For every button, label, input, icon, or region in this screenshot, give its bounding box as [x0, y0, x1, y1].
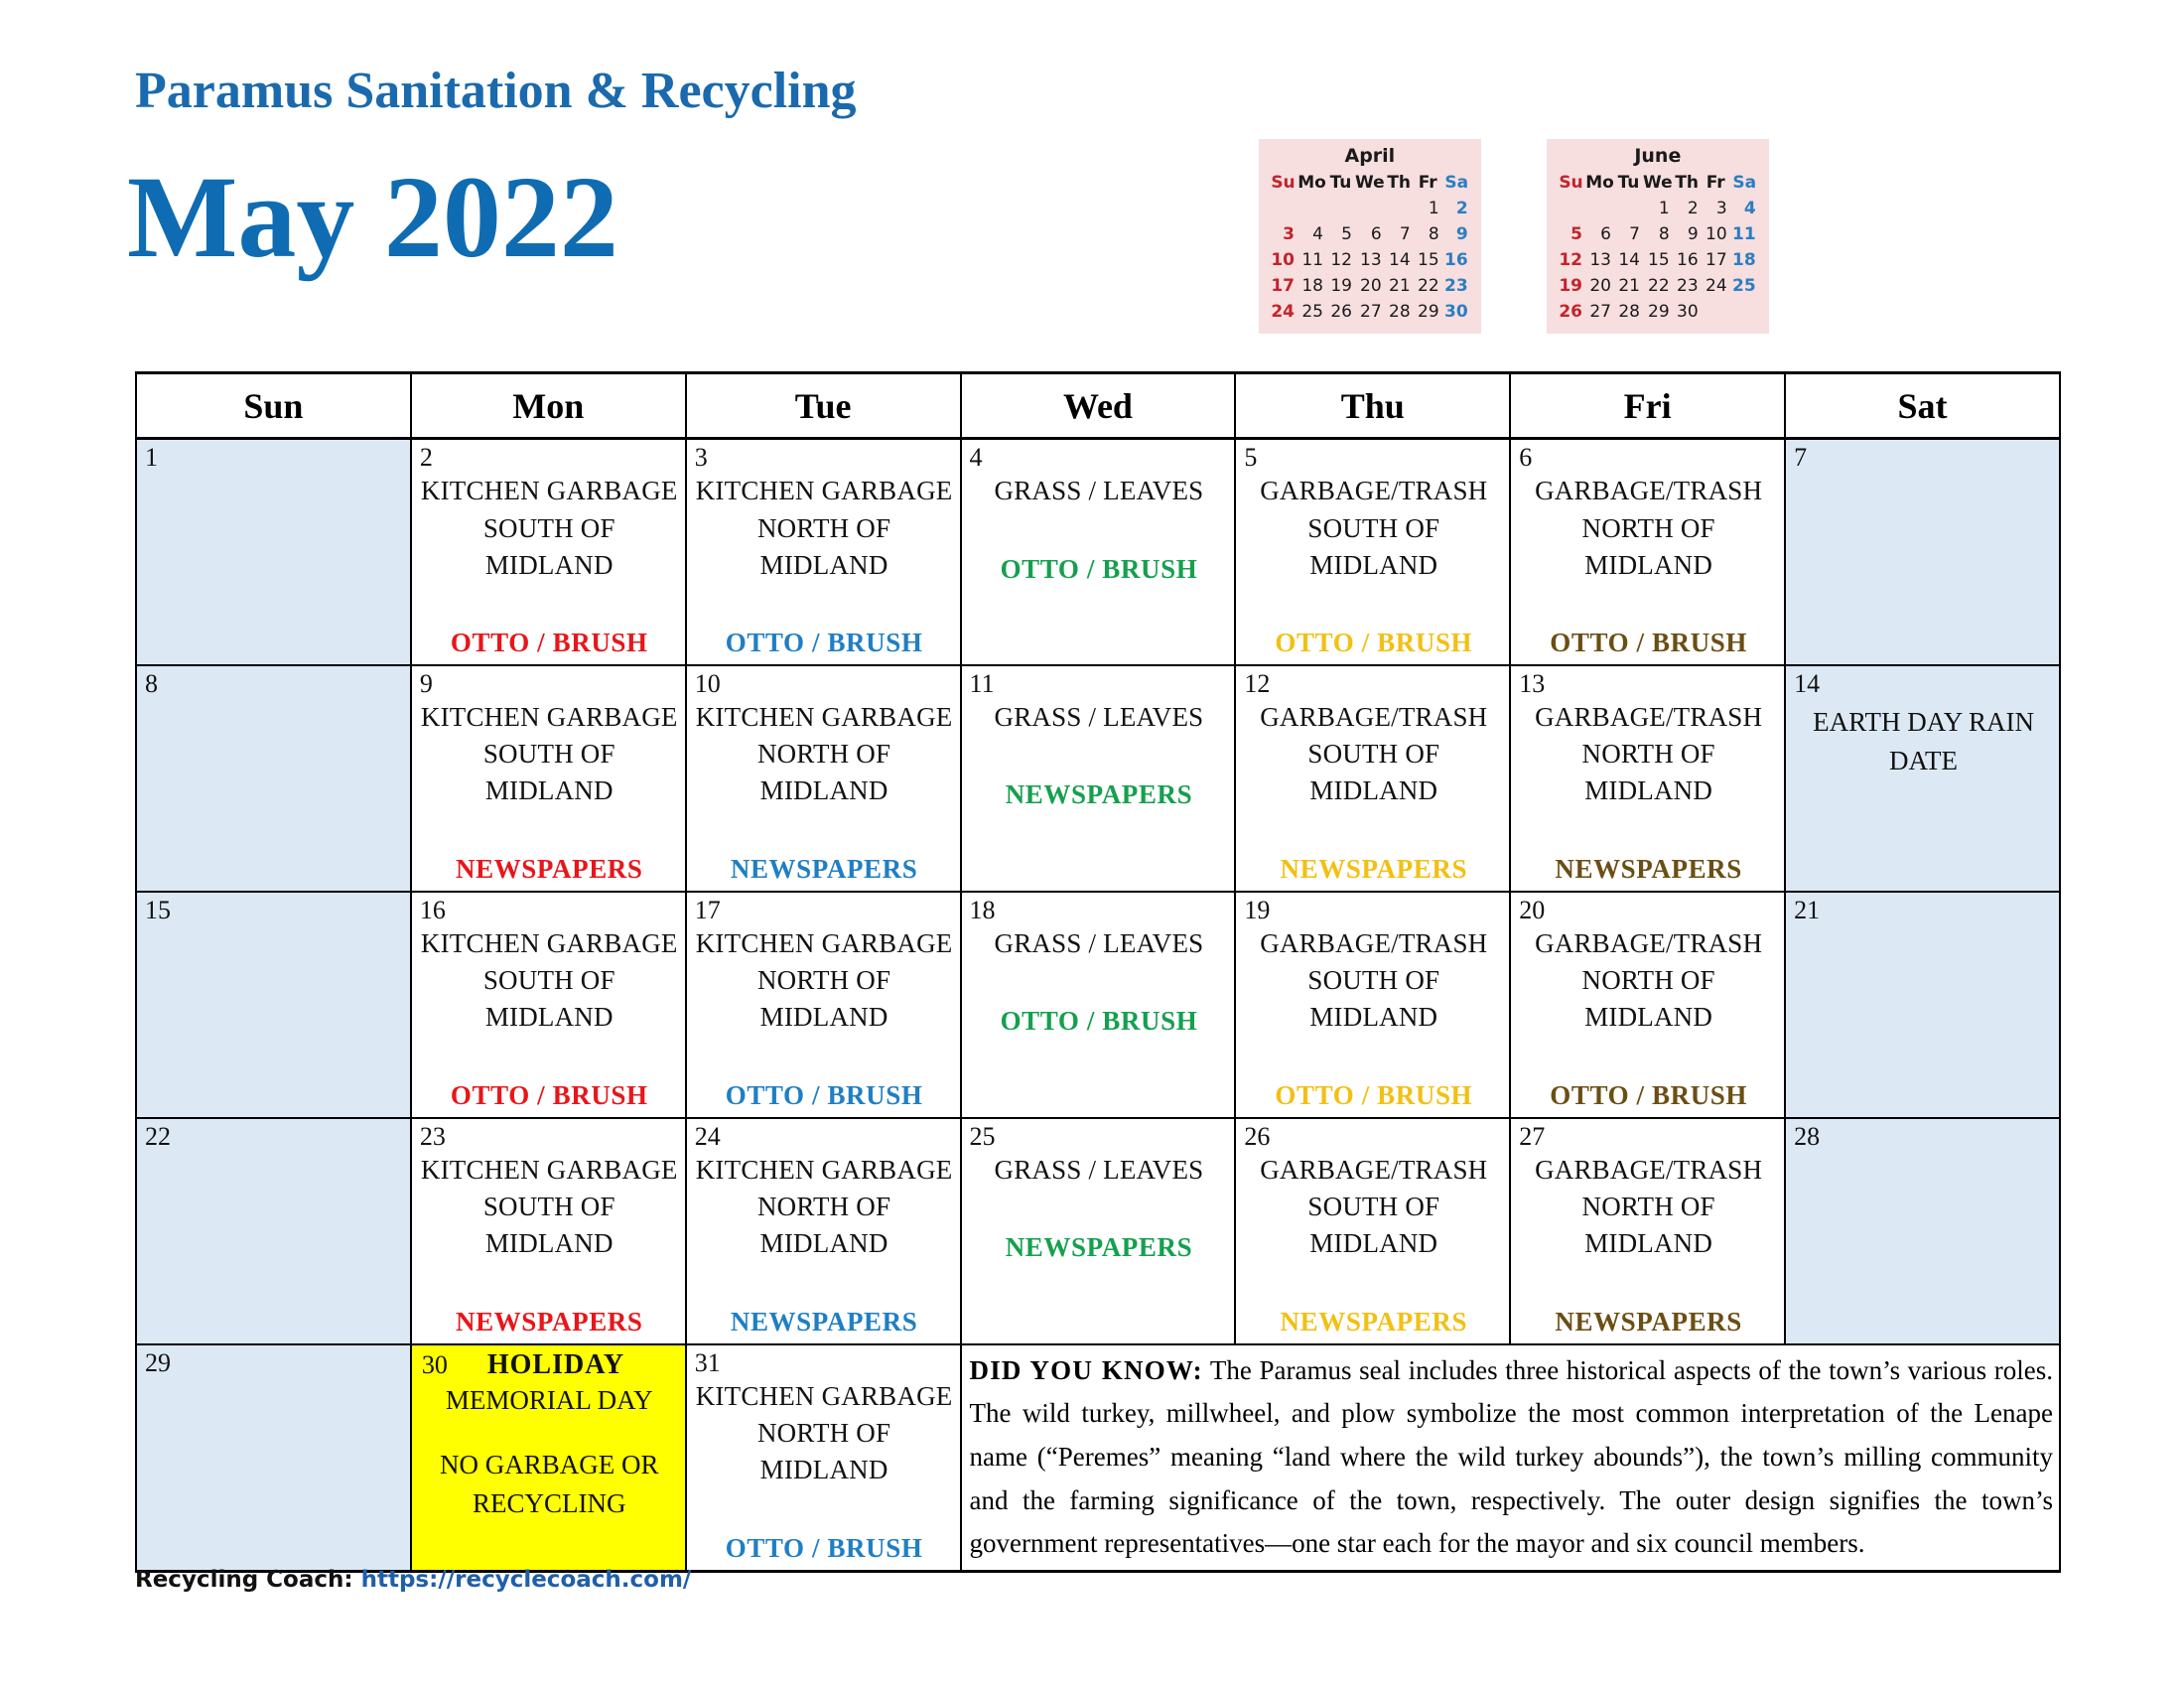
day-number: 9 [420, 670, 433, 697]
mini-day-cell: 18 [1730, 247, 1759, 273]
day-cell[interactable]: 19GARBAGE/TRASHSOUTH OF MIDLANDOTTO / BR… [1235, 892, 1510, 1118]
day-number: 2 [420, 444, 433, 471]
collection-line: SOUTH OF MIDLAND [1244, 736, 1503, 810]
pickup-label: OTTO / BRUSH [1519, 628, 1778, 658]
day-cell[interactable]: 20GARBAGE/TRASHNORTH OF MIDLANDOTTO / BR… [1510, 892, 1785, 1118]
mini-day-cell: 13 [1355, 247, 1385, 273]
holiday-notice: NO GARBAGE ORRECYCLING [420, 1446, 679, 1523]
collection-line: KITCHEN GARBAGE [420, 925, 679, 962]
mini-day-cell: 9 [1673, 221, 1702, 247]
weekday-header-sun: Sun [136, 373, 411, 439]
collection-line: SOUTH OF MIDLAND [420, 510, 679, 585]
day-number: 4 [970, 444, 983, 471]
collection-type: GARBAGE/TRASHNORTH OF MIDLAND [1519, 925, 1778, 1037]
mini-week-row: 12 [1269, 196, 1471, 221]
mini-dow-mo: Mo [1585, 170, 1614, 196]
calendar-week-row: 2223KITCHEN GARBAGESOUTH OF MIDLANDNEWSP… [136, 1118, 2060, 1344]
day-number: 17 [695, 897, 721, 923]
collection-type: GRASS / LEAVES [970, 925, 1229, 962]
collection-line: GARBAGE/TRASH [1519, 473, 1778, 509]
collection-line: GARBAGE/TRASH [1244, 1152, 1503, 1189]
weekday-header-wed: Wed [961, 373, 1236, 439]
day-cell[interactable]: 18GRASS / LEAVESOTTO / BRUSH [961, 892, 1236, 1118]
calendar-week-row-last: 2930HOLIDAYMEMORIAL DAYNO GARBAGE ORRECY… [136, 1344, 2060, 1572]
day-cell[interactable]: 21 [1785, 892, 2060, 1118]
mini-day-cell: 11 [1730, 221, 1759, 247]
collection-line: GARBAGE/TRASH [1519, 925, 1778, 962]
pickup-label: NEWSPAPERS [420, 854, 679, 885]
collection-line: NORTH OF MIDLAND [1519, 1189, 1778, 1263]
pickup-label: OTTO / BRUSH [695, 1080, 954, 1111]
day-number: 13 [1519, 670, 1545, 697]
mini-day-cell: 5 [1557, 221, 1585, 247]
pickup-label: OTTO / BRUSH [695, 628, 954, 658]
pickup-label: OTTO / BRUSH [695, 1533, 954, 1564]
mini-day-cell: 4 [1730, 196, 1759, 221]
collection-type: KITCHEN GARBAGESOUTH OF MIDLAND [420, 1152, 679, 1263]
collection-type: GARBAGE/TRASHSOUTH OF MIDLAND [1244, 1152, 1503, 1263]
mini-dow-row: SuMoTuWeThFrSa [1269, 170, 1471, 196]
mini-dow-tu: Tu [1326, 170, 1355, 196]
mini-day-cell: 1 [1414, 196, 1442, 221]
mini-day-cell [1614, 196, 1643, 221]
collection-line: KITCHEN GARBAGE [695, 473, 954, 509]
day-cell[interactable]: 29 [136, 1344, 411, 1572]
collection-line: NORTH OF MIDLAND [695, 962, 954, 1037]
mini-day-cell [1355, 196, 1385, 221]
mini-day-cell: 15 [1643, 247, 1673, 273]
collection-line: GRASS / LEAVES [970, 925, 1229, 962]
collection-type: GARBAGE/TRASHSOUTH OF MIDLAND [1244, 925, 1503, 1037]
collection-type: KITCHEN GARBAGESOUTH OF MIDLAND [420, 699, 679, 810]
pickup-label: NEWSPAPERS [695, 1307, 954, 1337]
day-cell[interactable]: 10KITCHEN GARBAGENORTH OF MIDLANDNEWSPAP… [686, 665, 961, 892]
collection-line: SOUTH OF MIDLAND [1244, 1189, 1503, 1263]
did-you-know-body: The Paramus seal includes three historic… [970, 1355, 2053, 1559]
mini-day-cell [1557, 196, 1585, 221]
day-number: 3 [695, 444, 708, 471]
mini-calendar-april: AprilSuMoTuWeThFrSa123456789101112131415… [1259, 139, 1481, 334]
collection-line: NORTH OF MIDLAND [695, 1415, 954, 1489]
day-cell[interactable]: 22 [136, 1118, 411, 1344]
footer: Recycling Coach: https://recyclecoach.co… [135, 1567, 691, 1593]
collection-line: KITCHEN GARBAGE [695, 1378, 954, 1415]
mini-week-row: 17181920212223 [1269, 273, 1471, 299]
mini-day-cell: 20 [1585, 273, 1614, 299]
day-cell[interactable]: 9KITCHEN GARBAGESOUTH OF MIDLANDNEWSPAPE… [411, 665, 686, 892]
collection-type: GARBAGE/TRASHSOUTH OF MIDLAND [1244, 699, 1503, 810]
mini-day-cell [1297, 196, 1326, 221]
collection-line: NORTH OF MIDLAND [695, 510, 954, 585]
mini-day-cell: 3 [1269, 221, 1297, 247]
did-you-know-lead: DID YOU KNOW: [970, 1355, 1203, 1385]
collection-line: SOUTH OF MIDLAND [420, 962, 679, 1037]
mini-dow-row: SuMoTuWeThFrSa [1557, 170, 1759, 196]
day-number: 21 [1794, 897, 1820, 923]
mini-dow-sa: Sa [1442, 170, 1471, 196]
mini-day-cell: 23 [1673, 273, 1702, 299]
weekday-header-tue: Tue [686, 373, 961, 439]
holiday-badge: HOLIDAY [487, 1349, 624, 1381]
mini-day-cell: 7 [1614, 221, 1643, 247]
pickup-label: OTTO / BRUSH [420, 1080, 679, 1111]
mini-dow-sa: Sa [1730, 170, 1759, 196]
collection-line: NORTH OF MIDLAND [695, 1189, 954, 1263]
holiday-name: MEMORIAL DAY [420, 1381, 679, 1420]
day-number: 23 [420, 1123, 446, 1150]
day-number: 6 [1519, 444, 1532, 471]
page-title: Paramus Sanitation & Recycling [135, 62, 857, 120]
mini-day-cell: 1 [1643, 196, 1673, 221]
pickup-label: OTTO / BRUSH [420, 628, 679, 658]
calendar-page: Paramus Sanitation & Recycling May 2022 … [0, 0, 2184, 1688]
mini-dow-fr: Fr [1414, 170, 1442, 196]
mini-day-cell: 12 [1557, 247, 1585, 273]
day-cell[interactable]: 4GRASS / LEAVESOTTO / BRUSH [961, 439, 1236, 665]
mini-dow-th: Th [1673, 170, 1702, 196]
pickup-label: NEWSPAPERS [1244, 854, 1503, 885]
collection-type: KITCHEN GARBAGENORTH OF MIDLAND [695, 1152, 954, 1263]
collection-line: SOUTH OF MIDLAND [1244, 962, 1503, 1037]
day-number: 5 [1244, 444, 1257, 471]
day-cell[interactable]: 13GARBAGE/TRASHNORTH OF MIDLANDNEWSPAPER… [1510, 665, 1785, 892]
day-cell[interactable]: 2KITCHEN GARBAGESOUTH OF MIDLANDOTTO / B… [411, 439, 686, 665]
day-cell[interactable]: 1 [136, 439, 411, 665]
day-number: 12 [1244, 670, 1270, 697]
day-cell[interactable]: 31KITCHEN GARBAGENORTH OF MIDLANDOTTO / … [686, 1344, 961, 1572]
calendar-week-row: 1516KITCHEN GARBAGESOUTH OF MIDLANDOTTO … [136, 892, 2060, 1118]
mini-week-row: 24252627282930 [1269, 299, 1471, 325]
did-you-know-panel: DID YOU KNOW: The Paramus seal includes … [961, 1344, 2060, 1572]
pickup-label: NEWSPAPERS [970, 779, 1229, 810]
collection-line: NORTH OF MIDLAND [1519, 736, 1778, 810]
collection-type: GARBAGE/TRASHNORTH OF MIDLAND [1519, 699, 1778, 810]
month-grid: Sun Mon Tue Wed Thu Fri Sat 12KITCHEN GA… [135, 371, 2061, 1573]
day-cell[interactable]: 27GARBAGE/TRASHNORTH OF MIDLANDNEWSPAPER… [1510, 1118, 1785, 1344]
day-cell[interactable]: 17KITCHEN GARBAGENORTH OF MIDLANDOTTO / … [686, 892, 961, 1118]
mini-day-cell: 16 [1442, 247, 1471, 273]
mini-calendar-title: April [1269, 145, 1471, 170]
collection-line: SOUTH OF MIDLAND [420, 736, 679, 810]
collection-type: KITCHEN GARBAGENORTH OF MIDLAND [695, 699, 954, 810]
pickup-label: NEWSPAPERS [1244, 1307, 1503, 1337]
day-cell[interactable]: 5GARBAGE/TRASHSOUTH OF MIDLANDOTTO / BRU… [1235, 439, 1510, 665]
mini-day-cell: 8 [1414, 221, 1442, 247]
weekday-header-thu: Thu [1235, 373, 1510, 439]
mini-day-cell: 14 [1385, 247, 1414, 273]
mini-dow-mo: Mo [1297, 170, 1326, 196]
weekday-header-mon: Mon [411, 373, 686, 439]
day-number: 18 [970, 897, 996, 923]
mini-day-cell: 28 [1385, 299, 1414, 325]
mini-dow-we: We [1643, 170, 1673, 196]
mini-day-cell [1585, 196, 1614, 221]
collection-line: KITCHEN GARBAGE [695, 699, 954, 736]
did-you-know-text: DID YOU KNOW: The Paramus seal includes … [970, 1349, 2053, 1567]
pickup-label: NEWSPAPERS [970, 1232, 1229, 1263]
mini-day-cell [1730, 299, 1759, 325]
day-cell[interactable]: 3KITCHEN GARBAGENORTH OF MIDLANDOTTO / B… [686, 439, 961, 665]
day-cell[interactable]: 6GARBAGE/TRASHNORTH OF MIDLANDOTTO / BRU… [1510, 439, 1785, 665]
day-number: 1 [145, 444, 158, 471]
mini-day-cell: 25 [1730, 273, 1759, 299]
mini-week-row: 10111213141516 [1269, 247, 1471, 273]
mini-week-row: 567891011 [1557, 221, 1759, 247]
collection-line: NORTH OF MIDLAND [1519, 962, 1778, 1037]
collection-line: GRASS / LEAVES [970, 699, 1229, 736]
collection-line: SOUTH OF MIDLAND [420, 1189, 679, 1263]
pickup-label: OTTO / BRUSH [1519, 1080, 1778, 1111]
mini-day-cell: 6 [1355, 221, 1385, 247]
day-number: 28 [1794, 1123, 1820, 1150]
mini-day-cell: 9 [1442, 221, 1471, 247]
mini-day-cell: 3 [1702, 196, 1730, 221]
mini-day-cell: 10 [1702, 221, 1730, 247]
pickup-label: OTTO / BRUSH [1244, 628, 1503, 658]
mini-day-cell: 27 [1355, 299, 1385, 325]
day-number: 30 [422, 1351, 448, 1378]
day-number: 11 [970, 670, 995, 697]
day-number: 26 [1244, 1123, 1270, 1150]
mini-day-cell: 18 [1297, 273, 1326, 299]
day-cell[interactable]: 16KITCHEN GARBAGESOUTH OF MIDLANDOTTO / … [411, 892, 686, 1118]
mini-day-cell: 19 [1326, 273, 1355, 299]
day-cell[interactable]: 23KITCHEN GARBAGESOUTH OF MIDLANDNEWSPAP… [411, 1118, 686, 1344]
day-cell[interactable]: 14EARTH DAY RAINDATE [1785, 665, 2060, 892]
mini-day-cell: 4 [1297, 221, 1326, 247]
collection-type: GARBAGE/TRASHNORTH OF MIDLAND [1519, 473, 1778, 584]
mini-day-cell: 25 [1297, 299, 1326, 325]
calendar-week-row: 12KITCHEN GARBAGESOUTH OF MIDLANDOTTO / … [136, 439, 2060, 665]
mini-day-cell: 2 [1442, 196, 1471, 221]
calendar-week-row: 89KITCHEN GARBAGESOUTH OF MIDLANDNEWSPAP… [136, 665, 2060, 892]
collection-line: GARBAGE/TRASH [1244, 925, 1503, 962]
mini-day-cell: 8 [1643, 221, 1673, 247]
day-cell[interactable]: 25GRASS / LEAVESNEWSPAPERS [961, 1118, 1236, 1344]
day-number: 20 [1519, 897, 1545, 923]
day-number: 31 [695, 1349, 721, 1376]
collection-line: GARBAGE/TRASH [1244, 473, 1503, 509]
mini-day-cell: 28 [1614, 299, 1643, 325]
collection-line: KITCHEN GARBAGE [420, 1152, 679, 1189]
collection-line: GARBAGE/TRASH [1519, 699, 1778, 736]
spacer [420, 1420, 679, 1446]
collection-line: EARTH DAY RAIN [1794, 703, 2053, 742]
month-title: May 2022 [127, 159, 618, 276]
holiday-notice-line: NO GARBAGE OR [420, 1446, 679, 1484]
collection-type: GRASS / LEAVES [970, 473, 1229, 509]
day-cell[interactable]: 11GRASS / LEAVESNEWSPAPERS [961, 665, 1236, 892]
collection-line: NORTH OF MIDLAND [1519, 510, 1778, 585]
weekday-header-fri: Fri [1510, 373, 1785, 439]
day-note: EARTH DAY RAINDATE [1794, 703, 2053, 780]
mini-week-row: 3456789 [1269, 221, 1471, 247]
day-number: 15 [145, 897, 171, 923]
pickup-label: NEWSPAPERS [695, 854, 954, 885]
mini-dow-we: We [1355, 170, 1385, 196]
day-number: 7 [1794, 444, 1807, 471]
day-number: 14 [1794, 670, 1820, 697]
day-cell[interactable]: 12GARBAGE/TRASHSOUTH OF MIDLANDNEWSPAPER… [1235, 665, 1510, 892]
mini-day-cell: 26 [1326, 299, 1355, 325]
footer-label: Recycling Coach: [135, 1567, 353, 1593]
mini-dow-su: Su [1557, 170, 1585, 196]
collection-line: DATE [1794, 742, 2053, 780]
day-number: 8 [145, 670, 158, 697]
collection-type: KITCHEN GARBAGENORTH OF MIDLAND [695, 473, 954, 584]
mini-day-cell [1702, 299, 1730, 325]
mini-calendar-june: JuneSuMoTuWeThFrSa1234567891011121314151… [1547, 139, 1769, 334]
mini-day-cell: 21 [1614, 273, 1643, 299]
day-cell[interactable]: 15 [136, 892, 411, 1118]
holiday-header: 30HOLIDAY [420, 1349, 679, 1381]
mini-day-cell: 13 [1585, 247, 1614, 273]
mini-day-cell [1385, 196, 1414, 221]
mini-week-row: 19202122232425 [1557, 273, 1759, 299]
collection-line: GRASS / LEAVES [970, 1152, 1229, 1189]
mini-dow-su: Su [1269, 170, 1297, 196]
holiday-name-line: MEMORIAL DAY [420, 1381, 679, 1420]
collection-line: KITCHEN GARBAGE [420, 699, 679, 736]
mini-day-cell: 11 [1297, 247, 1326, 273]
collection-type: KITCHEN GARBAGENORTH OF MIDLAND [695, 925, 954, 1037]
collection-line: KITCHEN GARBAGE [695, 1152, 954, 1189]
day-number: 19 [1244, 897, 1270, 923]
mini-day-cell: 22 [1643, 273, 1673, 299]
mini-day-cell: 6 [1585, 221, 1614, 247]
day-cell[interactable]: 28 [1785, 1118, 2060, 1344]
mini-day-cell [1326, 196, 1355, 221]
day-number: 29 [145, 1349, 171, 1376]
weekday-header-sat: Sat [1785, 373, 2060, 439]
mini-day-cell: 30 [1442, 299, 1471, 325]
recycle-coach-link[interactable]: https://recyclecoach.com/ [361, 1567, 692, 1593]
mini-day-cell: 20 [1355, 273, 1385, 299]
day-number: 16 [420, 897, 446, 923]
collection-line: KITCHEN GARBAGE [420, 473, 679, 509]
collection-type: GARBAGE/TRASHSOUTH OF MIDLAND [1244, 473, 1503, 584]
holiday-notice-line: RECYCLING [420, 1484, 679, 1523]
collection-line: GRASS / LEAVES [970, 473, 1229, 509]
pickup-label: OTTO / BRUSH [1244, 1080, 1503, 1111]
day-number: 10 [695, 670, 721, 697]
mini-day-cell: 17 [1702, 247, 1730, 273]
mini-day-cell: 14 [1614, 247, 1643, 273]
mini-day-cell: 2 [1673, 196, 1702, 221]
mini-day-cell: 23 [1442, 273, 1471, 299]
mini-week-row: 2627282930 [1557, 299, 1759, 325]
day-number: 24 [695, 1123, 721, 1150]
mini-day-cell: 19 [1557, 273, 1585, 299]
collection-line: KITCHEN GARBAGE [695, 925, 954, 962]
mini-day-cell: 21 [1385, 273, 1414, 299]
collection-type: KITCHEN GARBAGESOUTH OF MIDLAND [420, 473, 679, 584]
day-cell[interactable]: 8 [136, 665, 411, 892]
day-cell[interactable]: 26GARBAGE/TRASHSOUTH OF MIDLANDNEWSPAPER… [1235, 1118, 1510, 1344]
collection-line: SOUTH OF MIDLAND [1244, 510, 1503, 585]
pickup-label: OTTO / BRUSH [970, 1006, 1229, 1037]
mini-day-cell: 26 [1557, 299, 1585, 325]
mini-day-cell: 29 [1414, 299, 1442, 325]
mini-calendar-title: June [1557, 145, 1759, 170]
collection-type: GRASS / LEAVES [970, 699, 1229, 736]
collection-line: NORTH OF MIDLAND [695, 736, 954, 810]
collection-line: GARBAGE/TRASH [1519, 1152, 1778, 1189]
mini-day-cell [1269, 196, 1297, 221]
holiday-cell[interactable]: 30HOLIDAYMEMORIAL DAYNO GARBAGE ORRECYCL… [411, 1344, 686, 1572]
mini-day-cell: 24 [1269, 299, 1297, 325]
mini-day-cell: 7 [1385, 221, 1414, 247]
mini-day-cell: 15 [1414, 247, 1442, 273]
collection-type: GRASS / LEAVES [970, 1152, 1229, 1189]
collection-type: GARBAGE/TRASHNORTH OF MIDLAND [1519, 1152, 1778, 1263]
mini-day-cell: 5 [1326, 221, 1355, 247]
mini-day-cell: 30 [1673, 299, 1702, 325]
mini-day-cell: 17 [1269, 273, 1297, 299]
mini-week-row: 1234 [1557, 196, 1759, 221]
mini-day-cell: 27 [1585, 299, 1614, 325]
collection-line: GARBAGE/TRASH [1244, 699, 1503, 736]
mini-day-cell: 24 [1702, 273, 1730, 299]
mini-day-cell: 29 [1643, 299, 1673, 325]
collection-type: KITCHEN GARBAGESOUTH OF MIDLAND [420, 925, 679, 1037]
mini-day-cell: 16 [1673, 247, 1702, 273]
mini-day-cell: 22 [1414, 273, 1442, 299]
day-cell[interactable]: 7 [1785, 439, 2060, 665]
mini-day-cell: 12 [1326, 247, 1355, 273]
pickup-label: NEWSPAPERS [420, 1307, 679, 1337]
day-number: 22 [145, 1123, 171, 1150]
day-number: 27 [1519, 1123, 1545, 1150]
pickup-label: OTTO / BRUSH [970, 554, 1229, 585]
day-number: 25 [970, 1123, 996, 1150]
pickup-label: NEWSPAPERS [1519, 1307, 1778, 1337]
mini-dow-th: Th [1385, 170, 1414, 196]
weekday-header-row: Sun Mon Tue Wed Thu Fri Sat [136, 373, 2060, 439]
collection-type: KITCHEN GARBAGENORTH OF MIDLAND [695, 1378, 954, 1489]
mini-day-cell: 10 [1269, 247, 1297, 273]
mini-dow-tu: Tu [1614, 170, 1643, 196]
day-cell[interactable]: 24KITCHEN GARBAGENORTH OF MIDLANDNEWSPAP… [686, 1118, 961, 1344]
mini-week-row: 12131415161718 [1557, 247, 1759, 273]
mini-dow-fr: Fr [1702, 170, 1730, 196]
pickup-label: NEWSPAPERS [1519, 854, 1778, 885]
